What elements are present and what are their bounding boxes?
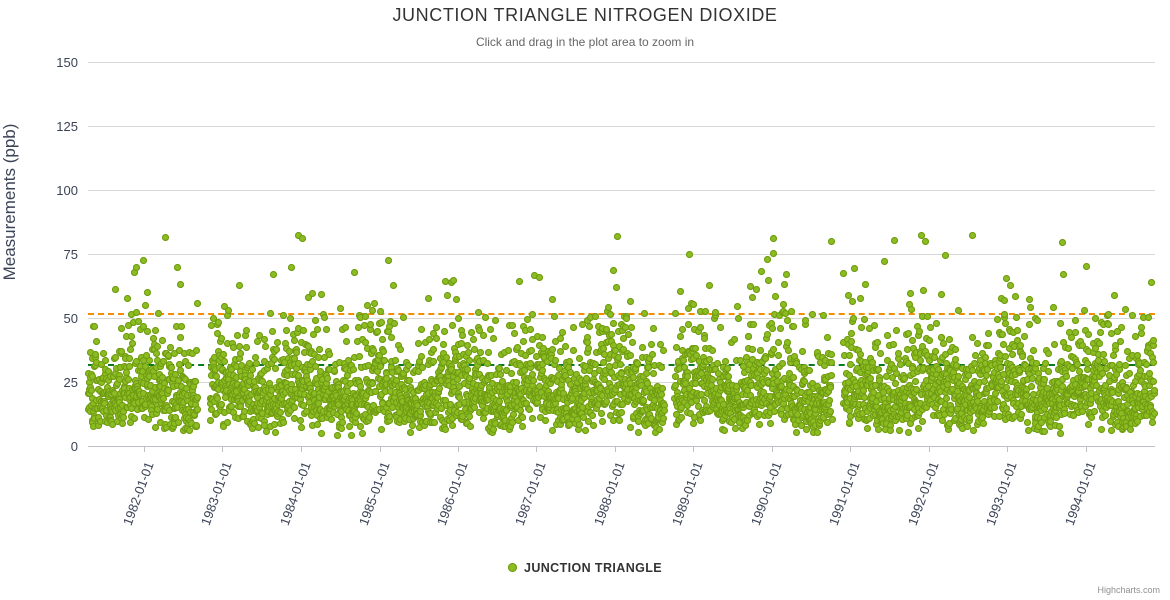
scatter-point[interactable]: [475, 309, 482, 316]
scatter-point[interactable]: [128, 333, 135, 340]
scatter-point[interactable]: [433, 335, 440, 342]
scatter-point[interactable]: [270, 271, 277, 278]
scatter-point[interactable]: [299, 235, 306, 242]
scatter-point[interactable]: [678, 414, 685, 421]
scatter-point[interactable]: [783, 271, 790, 278]
scatter-point[interactable]: [418, 353, 425, 360]
scatter-point[interactable]: [509, 322, 516, 329]
scatter-point[interactable]: [628, 324, 635, 331]
scatter-point[interactable]: [221, 358, 228, 365]
scatter-point[interactable]: [177, 334, 184, 341]
scatter-point[interactable]: [861, 316, 868, 323]
scatter-point[interactable]: [314, 421, 321, 428]
highcharts-credit-link[interactable]: Highcharts.com: [1097, 585, 1160, 595]
scatter-point[interactable]: [881, 258, 888, 265]
scatter-point[interactable]: [397, 346, 404, 353]
scatter-point[interactable]: [717, 324, 724, 331]
scatter-point[interactable]: [1110, 352, 1117, 359]
scatter-point[interactable]: [1122, 362, 1129, 369]
scatter-point[interactable]: [261, 336, 268, 343]
scatter-point[interactable]: [764, 256, 771, 263]
scatter-point[interactable]: [271, 356, 278, 363]
scatter-point[interactable]: [277, 409, 284, 416]
scatter-point[interactable]: [1059, 239, 1066, 246]
scatter-point[interactable]: [112, 286, 119, 293]
scatter-point[interactable]: [641, 310, 648, 317]
legend-item-junction-triangle[interactable]: JUNCTION TRIANGLE: [508, 561, 662, 575]
scatter-point[interactable]: [194, 394, 201, 401]
scatter-point[interactable]: [1041, 376, 1048, 383]
scatter-point[interactable]: [1050, 304, 1057, 311]
scatter-point[interactable]: [392, 357, 399, 364]
scatter-point[interactable]: [433, 324, 440, 331]
scatter-point[interactable]: [605, 304, 612, 311]
scatter-point[interactable]: [526, 406, 533, 413]
scatter-point[interactable]: [772, 293, 779, 300]
scatter-point[interactable]: [133, 309, 140, 316]
scatter-point[interactable]: [380, 348, 387, 355]
scatter-point[interactable]: [262, 343, 269, 350]
scatter-point[interactable]: [440, 341, 447, 348]
scatter-point[interactable]: [659, 385, 666, 392]
scatter-point[interactable]: [709, 376, 716, 383]
scatter-point[interactable]: [314, 326, 321, 333]
scatter-point[interactable]: [140, 257, 147, 264]
scatter-point[interactable]: [623, 315, 630, 322]
scatter-point[interactable]: [549, 346, 556, 353]
scatter-point[interactable]: [378, 426, 385, 433]
scatter-point[interactable]: [466, 413, 473, 420]
scatter-point[interactable]: [1034, 317, 1041, 324]
scatter-point[interactable]: [267, 310, 274, 317]
scatter-point[interactable]: [942, 252, 949, 259]
scatter-point[interactable]: [650, 325, 657, 332]
scatter-point[interactable]: [511, 330, 518, 337]
scatter-point[interactable]: [893, 327, 900, 334]
scatter-point[interactable]: [828, 351, 835, 358]
scatter-point[interactable]: [576, 421, 583, 428]
scatter-point[interactable]: [297, 417, 304, 424]
scatter-point[interactable]: [350, 366, 357, 373]
scatter-point[interactable]: [490, 426, 497, 433]
scatter-point[interactable]: [750, 321, 757, 328]
scatter-point[interactable]: [430, 346, 437, 353]
scatter-point[interactable]: [1129, 312, 1136, 319]
scatter-point[interactable]: [1019, 353, 1026, 360]
scatter-point[interactable]: [520, 338, 527, 345]
scatter-point[interactable]: [890, 341, 897, 348]
scatter-point[interactable]: [907, 290, 914, 297]
scatter-point[interactable]: [672, 310, 679, 317]
scatter-point[interactable]: [1105, 321, 1112, 328]
scatter-point[interactable]: [287, 315, 294, 322]
scatter-point[interactable]: [780, 301, 787, 308]
scatter-point[interactable]: [1045, 350, 1052, 357]
scatter-point[interactable]: [144, 328, 151, 335]
scatter-point[interactable]: [485, 349, 492, 356]
scatter-point[interactable]: [385, 257, 392, 264]
scatter-point[interactable]: [253, 360, 260, 367]
scatter-point[interactable]: [309, 290, 316, 297]
scatter-point[interactable]: [367, 321, 374, 328]
scatter-point[interactable]: [849, 298, 856, 305]
scatter-point[interactable]: [858, 324, 865, 331]
scatter-point[interactable]: [1024, 419, 1031, 426]
scatter-point[interactable]: [1028, 383, 1035, 390]
scatter-point[interactable]: [559, 329, 566, 336]
scatter-point[interactable]: [539, 334, 546, 341]
scatter-point[interactable]: [985, 330, 992, 337]
scatter-point[interactable]: [1085, 421, 1092, 428]
scatter-point[interactable]: [274, 339, 281, 346]
scatter-point[interactable]: [388, 334, 395, 341]
scatter-point[interactable]: [1148, 279, 1155, 286]
scatter-point[interactable]: [765, 277, 772, 284]
scatter-point[interactable]: [91, 323, 98, 330]
scatter-point[interactable]: [679, 326, 686, 333]
scatter-point[interactable]: [862, 281, 869, 288]
scatter-point[interactable]: [648, 341, 655, 348]
scatter-point[interactable]: [453, 296, 460, 303]
scatter-point[interactable]: [661, 407, 668, 414]
scatter-point[interactable]: [1081, 307, 1088, 314]
scatter-point[interactable]: [391, 320, 398, 327]
scatter-point[interactable]: [162, 234, 169, 241]
scatter-point[interactable]: [857, 351, 864, 358]
scatter-point[interactable]: [767, 420, 774, 427]
scatter-point[interactable]: [530, 377, 537, 384]
scatter-point[interactable]: [283, 327, 290, 334]
scatter-point[interactable]: [877, 350, 884, 357]
scatter-point[interactable]: [144, 289, 151, 296]
scatter-point[interactable]: [869, 359, 876, 366]
scatter-point[interactable]: [224, 419, 231, 426]
scatter-point[interactable]: [827, 408, 834, 415]
scatter-point[interactable]: [442, 426, 449, 433]
scatter-point[interactable]: [1012, 293, 1019, 300]
scatter-point[interactable]: [781, 281, 788, 288]
scatter-point[interactable]: [635, 429, 642, 436]
scatter-point[interactable]: [660, 415, 667, 422]
scatter-point[interactable]: [629, 339, 636, 346]
scatter-point[interactable]: [933, 320, 940, 327]
scatter-point[interactable]: [459, 332, 466, 339]
scatter-point[interactable]: [586, 323, 593, 330]
scatter-point[interactable]: [614, 233, 621, 240]
scatter-point[interactable]: [127, 346, 134, 353]
scatter-point[interactable]: [920, 287, 927, 294]
scatter-point[interactable]: [592, 313, 599, 320]
scatter-point[interactable]: [426, 336, 433, 343]
scatter-point[interactable]: [1060, 271, 1067, 278]
scatter-point[interactable]: [405, 362, 412, 369]
scatter-point[interactable]: [193, 347, 200, 354]
scatter-point[interactable]: [185, 362, 192, 369]
scatter-point[interactable]: [634, 360, 641, 367]
scatter-point[interactable]: [677, 333, 684, 340]
scatter-point[interactable]: [406, 377, 413, 384]
scatter-point[interactable]: [194, 406, 201, 413]
scatter-point[interactable]: [207, 417, 214, 424]
scatter-point[interactable]: [369, 380, 376, 387]
scatter-point[interactable]: [985, 342, 992, 349]
scatter-point[interactable]: [660, 347, 667, 354]
scatter-point[interactable]: [215, 319, 222, 326]
scatter-point[interactable]: [980, 420, 987, 427]
scatter-point[interactable]: [769, 325, 776, 332]
scatter-point[interactable]: [477, 349, 484, 356]
scatter-point[interactable]: [884, 332, 891, 339]
scatter-point[interactable]: [814, 429, 821, 436]
scatter-point[interactable]: [790, 374, 797, 381]
scatter-point[interactable]: [785, 347, 792, 354]
scatter-point[interactable]: [974, 340, 981, 347]
scatter-point[interactable]: [874, 339, 881, 346]
scatter-point[interactable]: [1150, 378, 1157, 385]
scatter-point[interactable]: [1072, 329, 1079, 336]
scatter-point[interactable]: [318, 430, 325, 437]
scatter-point[interactable]: [926, 337, 933, 344]
scatter-point[interactable]: [615, 354, 622, 361]
scatter-point[interactable]: [174, 264, 181, 271]
scatter-point[interactable]: [1001, 297, 1008, 304]
scatter-point[interactable]: [527, 326, 534, 333]
scatter-point[interactable]: [1150, 359, 1157, 366]
scatter-point[interactable]: [374, 328, 381, 335]
scatter-point[interactable]: [905, 330, 912, 337]
scatter-point[interactable]: [467, 423, 474, 430]
scatter-point[interactable]: [490, 335, 497, 342]
scatter-point[interactable]: [1007, 282, 1014, 289]
scatter-point[interactable]: [627, 352, 634, 359]
scatter-point[interactable]: [610, 267, 617, 274]
scatter-point[interactable]: [337, 305, 344, 312]
scatter-point[interactable]: [848, 330, 855, 337]
scatter-point[interactable]: [236, 282, 243, 289]
scatter-point[interactable]: [1098, 426, 1105, 433]
scatter-point[interactable]: [1021, 333, 1028, 340]
scatter-point[interactable]: [846, 352, 853, 359]
scatter-point[interactable]: [220, 351, 227, 358]
scatter-point[interactable]: [444, 292, 451, 299]
scatter-point[interactable]: [1149, 419, 1156, 426]
scatter-point[interactable]: [159, 337, 166, 344]
scatter-point[interactable]: [756, 421, 763, 428]
scatter-point[interactable]: [351, 269, 358, 276]
scatter-point[interactable]: [627, 298, 634, 305]
scatter-point[interactable]: [243, 327, 250, 334]
plot-area[interactable]: [88, 62, 1155, 446]
scatter-point[interactable]: [379, 336, 386, 343]
scatter-point[interactable]: [709, 347, 716, 354]
scatter-point[interactable]: [790, 323, 797, 330]
scatter-point[interactable]: [1088, 414, 1095, 421]
scatter-point[interactable]: [272, 365, 279, 372]
scatter-point[interactable]: [464, 366, 471, 373]
scatter-point[interactable]: [724, 365, 731, 372]
scatter-point[interactable]: [735, 315, 742, 322]
scatter-point[interactable]: [359, 430, 366, 437]
scatter-point[interactable]: [607, 311, 614, 318]
scatter-point[interactable]: [570, 347, 577, 354]
scatter-point[interactable]: [562, 343, 569, 350]
scatter-point[interactable]: [505, 347, 512, 354]
scatter-point[interactable]: [828, 359, 835, 366]
scatter-point[interactable]: [542, 417, 549, 424]
scatter-point[interactable]: [922, 238, 929, 245]
scatter-point[interactable]: [152, 327, 159, 334]
scatter-point[interactable]: [809, 311, 816, 318]
scatter-point[interactable]: [764, 331, 771, 338]
scatter-point[interactable]: [697, 324, 704, 331]
scatter-point[interactable]: [369, 307, 376, 314]
scatter-point[interactable]: [701, 335, 708, 342]
scatter-point[interactable]: [917, 357, 924, 364]
scatter-point[interactable]: [519, 414, 526, 421]
scatter-point[interactable]: [1083, 263, 1090, 270]
scatter-point[interactable]: [482, 314, 489, 321]
scatter-point[interactable]: [381, 357, 388, 364]
scatter-point[interactable]: [1118, 324, 1125, 331]
scatter-point[interactable]: [449, 322, 456, 329]
scatter-point[interactable]: [155, 310, 162, 317]
scatter-point[interactable]: [430, 358, 437, 365]
scatter-point[interactable]: [589, 412, 596, 419]
scatter-point[interactable]: [1051, 341, 1058, 348]
scatter-point[interactable]: [702, 308, 709, 315]
scatter-point[interactable]: [549, 427, 556, 434]
scatter-point[interactable]: [864, 425, 871, 432]
scatter-point[interactable]: [828, 238, 835, 245]
scatter-point[interactable]: [617, 361, 624, 368]
scatter-point[interactable]: [1057, 320, 1064, 327]
scatter-point[interactable]: [418, 326, 425, 333]
scatter-point[interactable]: [1057, 430, 1064, 437]
scatter-point[interactable]: [905, 429, 912, 436]
scatter-point[interactable]: [293, 349, 300, 356]
scatter-point[interactable]: [516, 278, 523, 285]
scatter-point[interactable]: [775, 339, 782, 346]
scatter-point[interactable]: [686, 251, 693, 258]
scatter-point[interactable]: [871, 322, 878, 329]
scatter-point[interactable]: [1056, 423, 1063, 430]
scatter-point[interactable]: [999, 331, 1006, 338]
scatter-point[interactable]: [969, 232, 976, 239]
scatter-point[interactable]: [529, 415, 536, 422]
scatter-point[interactable]: [269, 328, 276, 335]
scatter-point[interactable]: [598, 410, 605, 417]
scatter-point[interactable]: [318, 291, 325, 298]
scatter-point[interactable]: [932, 348, 939, 355]
scatter-point[interactable]: [826, 397, 833, 404]
scatter-point[interactable]: [788, 308, 795, 315]
scatter-point[interactable]: [590, 422, 597, 429]
scatter-point[interactable]: [323, 326, 330, 333]
scatter-point[interactable]: [539, 367, 546, 374]
scatter-point[interactable]: [745, 333, 752, 340]
scatter-point[interactable]: [312, 317, 319, 324]
scatter-point[interactable]: [356, 353, 363, 360]
scatter-point[interactable]: [551, 313, 558, 320]
scatter-point[interactable]: [321, 314, 328, 321]
scatter-point[interactable]: [131, 415, 138, 422]
scatter-point[interactable]: [508, 370, 515, 377]
scatter-point[interactable]: [470, 336, 477, 343]
scatter-point[interactable]: [851, 265, 858, 272]
scatter-point[interactable]: [1096, 340, 1103, 347]
scatter-point[interactable]: [576, 355, 583, 362]
scatter-point[interactable]: [706, 282, 713, 289]
scatter-point[interactable]: [650, 370, 657, 377]
scatter-point[interactable]: [1126, 370, 1133, 377]
scatter-point[interactable]: [952, 346, 959, 353]
scatter-point[interactable]: [955, 307, 962, 314]
scatter-point[interactable]: [316, 346, 323, 353]
scatter-point[interactable]: [784, 339, 791, 346]
scatter-point[interactable]: [938, 291, 945, 298]
scatter-point[interactable]: [608, 331, 615, 338]
scatter-point[interactable]: [721, 427, 728, 434]
scatter-point[interactable]: [484, 360, 491, 367]
scatter-point[interactable]: [770, 235, 777, 242]
scatter-point[interactable]: [908, 306, 915, 313]
scatter-point[interactable]: [850, 315, 857, 322]
scatter-point[interactable]: [1138, 330, 1145, 337]
scatter-point[interactable]: [249, 366, 256, 373]
scatter-point[interactable]: [570, 324, 577, 331]
scatter-point[interactable]: [92, 351, 99, 358]
scatter-point[interactable]: [697, 417, 704, 424]
scatter-point[interactable]: [291, 404, 298, 411]
scatter-point[interactable]: [371, 300, 378, 307]
scatter-point[interactable]: [758, 268, 765, 275]
scatter-point[interactable]: [441, 328, 448, 335]
scatter-point[interactable]: [616, 417, 623, 424]
scatter-point[interactable]: [272, 429, 279, 436]
scatter-point[interactable]: [343, 338, 350, 345]
scatter-point[interactable]: [916, 328, 923, 335]
scatter-point[interactable]: [827, 384, 834, 391]
scatter-point[interactable]: [799, 348, 806, 355]
scatter-point[interactable]: [734, 303, 741, 310]
scatter-point[interactable]: [1143, 361, 1150, 368]
scatter-point[interactable]: [133, 264, 140, 271]
scatter-point[interactable]: [677, 288, 684, 295]
scatter-point[interactable]: [492, 317, 499, 324]
scatter-point[interactable]: [613, 284, 620, 291]
scatter-point[interactable]: [1072, 317, 1079, 324]
scatter-point[interactable]: [618, 409, 625, 416]
scatter-point[interactable]: [1065, 345, 1072, 352]
scatter-point[interactable]: [194, 300, 201, 307]
scatter-point[interactable]: [1003, 275, 1010, 282]
scatter-point[interactable]: [1151, 410, 1158, 417]
scatter-point[interactable]: [487, 326, 494, 333]
scatter-point[interactable]: [1009, 351, 1016, 358]
scatter-point[interactable]: [585, 345, 592, 352]
scatter-point[interactable]: [1097, 329, 1104, 336]
scatter-point[interactable]: [425, 295, 432, 302]
scatter-point[interactable]: [342, 324, 349, 331]
scatter-point[interactable]: [124, 295, 131, 302]
scatter-point[interactable]: [154, 343, 161, 350]
scatter-point[interactable]: [549, 296, 556, 303]
scatter-point[interactable]: [640, 397, 647, 404]
scatter-point[interactable]: [300, 327, 307, 334]
scatter-point[interactable]: [480, 332, 487, 339]
scatter-point[interactable]: [464, 342, 471, 349]
scatter-point[interactable]: [1027, 304, 1034, 311]
